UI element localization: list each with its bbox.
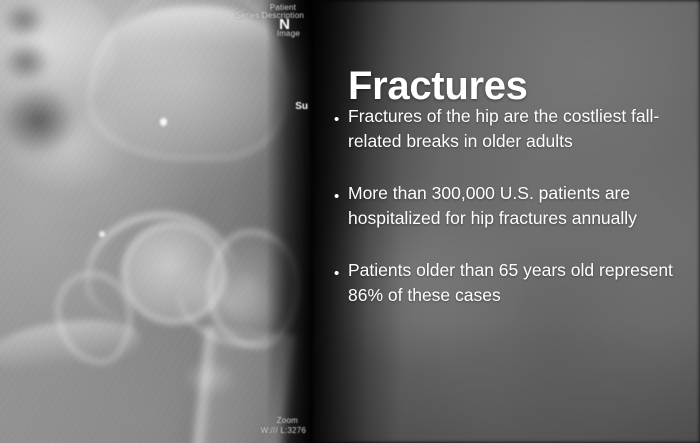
list-item: • More than 300,000 U.S. patients are ho… [334,181,686,231]
list-item-label: Patients older than 65 years old represe… [348,258,686,308]
dicom-window-level-label: W:/// L:3276 [261,426,306,435]
bullet-dot-icon: • [334,266,348,281]
bullet-list: • Fractures of the hip are the costliest… [334,104,686,335]
panel-content: Fractures • Fractures of the hip are the… [312,0,700,443]
list-item-label: Fractures of the hip are the costliest f… [348,104,686,154]
list-item: • Fractures of the hip are the costliest… [334,104,686,154]
presentation-slide: Patient Series Description N Image Su Zo… [0,0,700,443]
list-item-label: More than 300,000 U.S. patients are hosp… [348,181,686,231]
bullet-dot-icon: • [334,189,348,204]
page-title: Fractures [348,66,528,106]
dicom-side-marker: Su [295,101,308,112]
slide-text-panel: Fractures • Fractures of the hip are the… [312,0,700,443]
bullet-dot-icon: • [334,112,348,127]
dicom-zoom-label: Zoom [277,416,298,425]
hip-xray-image: Patient Series Description N Image Su Zo… [0,0,312,443]
list-item: • Patients older than 65 years old repre… [334,258,686,308]
dicom-image-label: Image [277,29,300,38]
dicom-series-description: Series Description [235,11,304,20]
